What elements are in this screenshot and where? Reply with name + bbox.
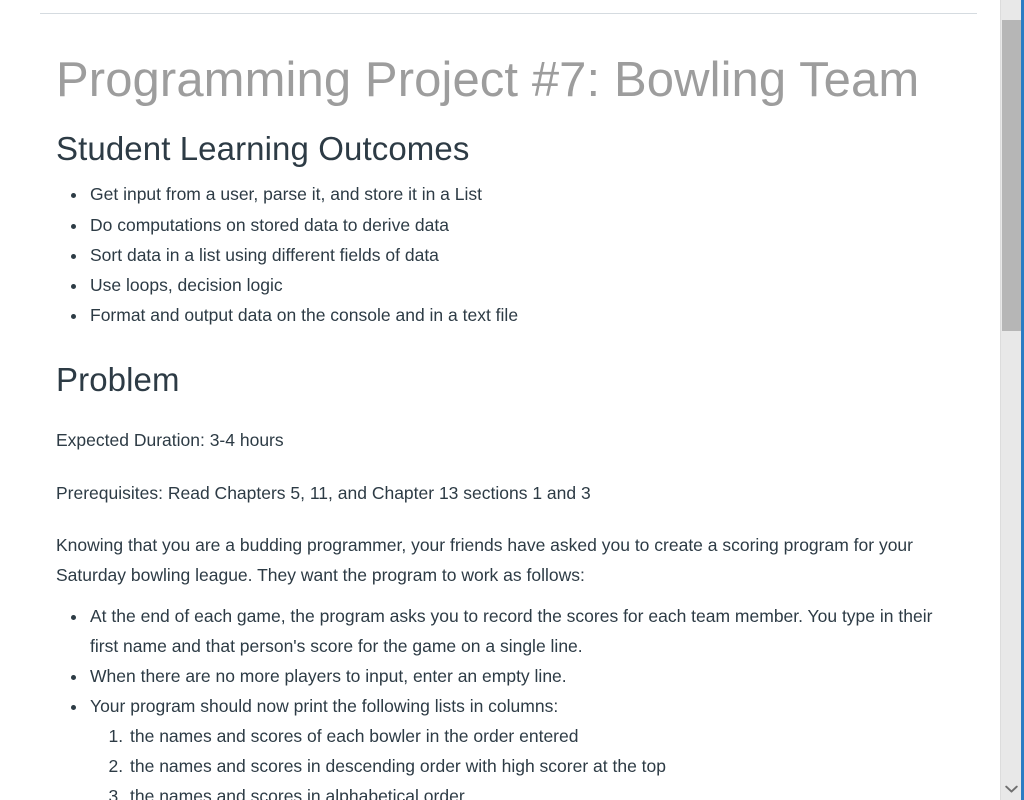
list-item: Your program should now print the follow… (88, 691, 960, 800)
problem-requirements-list: At the end of each game, the program ask… (56, 601, 960, 800)
scrollbar-thumb[interactable] (1002, 20, 1021, 331)
list-item: At the end of each game, the program ask… (88, 601, 960, 661)
list-item: Do computations on stored data to derive… (88, 210, 960, 240)
print-lists-ordered-list: the names and scores of each bowler in t… (90, 721, 960, 800)
list-item: the names and scores in descending order… (128, 751, 960, 781)
page-title: Programming Project #7: Bowling Team (56, 40, 960, 110)
document-content-area: Programming Project #7: Bowling Team Stu… (0, 0, 1000, 800)
assignment-document: Programming Project #7: Bowling Team Stu… (0, 0, 1000, 800)
vertical-scrollbar[interactable] (1000, 0, 1021, 800)
section-heading-student-learning-outcomes: Student Learning Outcomes (56, 129, 960, 169)
browser-viewport: Programming Project #7: Bowling Team Stu… (0, 0, 1024, 800)
list-item: When there are no more players to input,… (88, 661, 960, 691)
list-item: the names and scores in alphabetical ord… (128, 781, 960, 800)
list-item: Get input from a user, parse it, and sto… (88, 179, 960, 209)
expected-duration-text: Expected Duration: 3-4 hours (56, 425, 936, 455)
student-learning-outcomes-list: Get input from a user, parse it, and sto… (56, 179, 960, 329)
scrollbar-down-button[interactable] (1001, 778, 1021, 800)
chevron-down-icon (1005, 785, 1018, 794)
list-item: Use loops, decision logic (88, 270, 960, 300)
list-item-label: Your program should now print the follow… (90, 696, 558, 716)
list-item: Format and output data on the console an… (88, 300, 960, 330)
problem-description-text: Knowing that you are a budding programme… (56, 530, 936, 590)
list-item: the names and scores of each bowler in t… (128, 721, 960, 751)
list-item: Sort data in a list using different fiel… (88, 240, 960, 270)
prerequisites-text: Prerequisites: Read Chapters 5, 11, and … (56, 478, 936, 508)
section-heading-problem: Problem (56, 360, 960, 400)
